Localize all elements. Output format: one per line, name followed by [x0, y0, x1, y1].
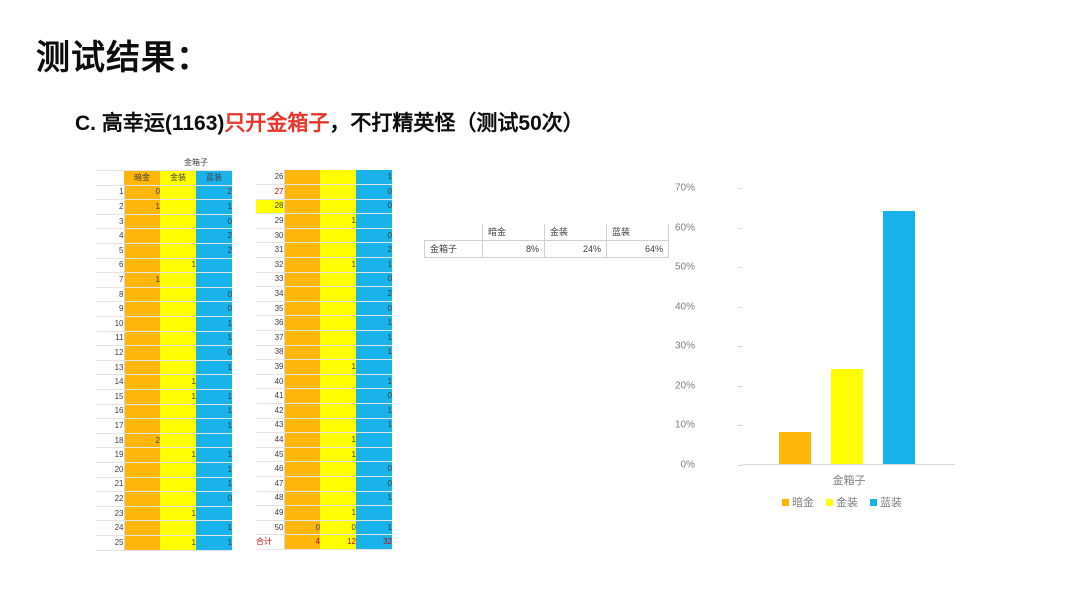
cell-gold-gear	[320, 228, 356, 243]
row-index-cell: 40	[256, 374, 284, 389]
row-index-cell: 25	[96, 535, 124, 550]
row-index-cell: 16	[96, 404, 124, 419]
table-row[interactable]: 451	[256, 447, 392, 462]
cell-gold-gear: 1	[320, 433, 356, 448]
cell-dark-gold	[124, 360, 160, 375]
table-row[interactable]: 371	[256, 331, 392, 346]
row-index-cell: 7	[96, 273, 124, 288]
cell-dark-gold	[124, 404, 160, 419]
cell-dark-gold	[284, 301, 320, 316]
cell-dark-gold	[124, 317, 160, 332]
row-index-cell: 34	[256, 287, 284, 302]
table-row[interactable]: 491	[256, 506, 392, 521]
total-row: 合计41232	[256, 535, 392, 550]
table-row[interactable]: 241	[96, 521, 232, 536]
y-axis-tick-mark	[738, 465, 743, 466]
table-row[interactable]: 161	[96, 404, 232, 419]
row-index-cell: 42	[256, 404, 284, 419]
table-row[interactable]: 50001	[256, 520, 392, 535]
cell-gold-gear: 1	[320, 258, 356, 273]
y-axis-tick-mark	[738, 307, 743, 308]
cell-dark-gold	[284, 331, 320, 346]
row-index-cell: 36	[256, 316, 284, 331]
cell-blue-gear: 0	[356, 301, 392, 316]
slide-subtitle: C. 高幸运(1163)只开金箱子，不打精英怪（测试50次）	[75, 107, 584, 137]
table-row[interactable]: 410	[256, 389, 392, 404]
row-index-cell: 5	[96, 244, 124, 259]
table-row[interactable]: 291	[256, 214, 392, 229]
cell-gold-gear	[160, 360, 196, 375]
cell-dark-gold	[284, 170, 320, 185]
table-row[interactable]: 141	[96, 375, 232, 390]
cell-gold-gear	[320, 185, 356, 200]
cell-blue-gear	[196, 258, 232, 273]
cell-blue-gear: 1	[196, 317, 232, 332]
legend-item[interactable]: 金装	[826, 494, 858, 510]
row-index-cell: 12	[96, 346, 124, 361]
cell-blue-gear: 1	[356, 520, 392, 535]
cell-blue-gear: 1	[356, 345, 392, 360]
column-header-row: 暗金 金装 蓝装	[96, 171, 232, 186]
cell-blue-gear: 2	[196, 185, 232, 200]
cell-blue-gear: 1	[196, 521, 232, 536]
row-index-cell: 38	[256, 345, 284, 360]
cell-blue-gear: 1	[356, 418, 392, 433]
row-index-cell: 2	[96, 200, 124, 215]
legend-swatch-icon	[826, 499, 833, 506]
table-row[interactable]: 481	[256, 491, 392, 506]
pct-value-dark: 8%	[483, 241, 545, 258]
cell-blue-gear: 0	[356, 199, 392, 214]
cell-dark-gold	[284, 258, 320, 273]
cell-gold-gear	[320, 243, 356, 258]
row-index-corner	[96, 156, 124, 171]
cell-blue-gear: 0	[196, 492, 232, 507]
y-axis-tick-label: 50%	[655, 262, 695, 273]
y-axis-tick-mark	[738, 188, 743, 189]
cell-gold-gear: 1	[320, 214, 356, 229]
row-index-header	[96, 171, 124, 186]
legend-swatch-icon	[870, 499, 877, 506]
column-header-gold: 金装	[160, 171, 196, 186]
row-index-cell: 6	[96, 258, 124, 273]
cell-dark-gold	[284, 287, 320, 302]
cell-dark-gold	[124, 506, 160, 521]
cell-blue-gear: 1	[196, 448, 232, 463]
cell-dark-gold	[124, 302, 160, 317]
cell-gold-gear	[160, 433, 196, 448]
table-row[interactable]: 421	[256, 404, 392, 419]
cell-blue-gear: 1	[196, 462, 232, 477]
row-index-cell: 20	[96, 462, 124, 477]
cell-gold-gear	[160, 273, 196, 288]
row-index-cell: 18	[96, 433, 124, 448]
table-body-right: 2612702802913003123211330342350361371381…	[256, 170, 392, 549]
legend-label: 蓝装	[880, 497, 902, 509]
cell-blue-gear: 0	[356, 462, 392, 477]
cell-blue-gear: 0	[356, 185, 392, 200]
cell-dark-gold	[124, 535, 160, 550]
y-axis-tick-mark	[738, 267, 743, 268]
table-row[interactable]: 211	[96, 477, 232, 492]
cell-blue-gear	[356, 506, 392, 521]
cell-blue-gear: 1	[356, 258, 392, 273]
cell-dark-gold	[284, 374, 320, 389]
table-row[interactable]: 201	[96, 462, 232, 477]
cell-dark-gold	[284, 462, 320, 477]
cell-gold-gear	[160, 229, 196, 244]
cell-dark-gold	[284, 491, 320, 506]
table-row[interactable]: 431	[256, 418, 392, 433]
table-row[interactable]: 1911	[96, 448, 232, 463]
table-head-left: 金箱子 暗金 金装 蓝装	[96, 156, 232, 185]
row-index-cell: 26	[256, 170, 284, 185]
row-index-cell: 15	[96, 390, 124, 405]
pct-data-row: 金箱子 8% 24% 64%	[425, 241, 669, 258]
cell-gold-gear	[320, 287, 356, 302]
cell-dark-gold	[284, 243, 320, 258]
bar-蓝装	[883, 211, 915, 464]
cell-blue-gear: 1	[356, 404, 392, 419]
cell-dark-gold	[284, 433, 320, 448]
cell-gold-gear	[320, 476, 356, 491]
cell-dark-gold	[124, 390, 160, 405]
pct-value-blue: 64%	[607, 241, 669, 258]
cell-blue-gear	[196, 433, 232, 448]
table-row[interactable]: 102	[96, 185, 232, 200]
subtitle-part-2: ，不打精英怪（测试50次）	[329, 112, 583, 135]
cell-gold-gear: 0	[320, 520, 356, 535]
table-row[interactable]: 111	[96, 331, 232, 346]
cell-dark-gold	[124, 448, 160, 463]
row-index-cell: 14	[96, 375, 124, 390]
table-row[interactable]: 101	[96, 317, 232, 332]
y-axis-tick-label: 10%	[655, 420, 695, 431]
cell-gold-gear	[160, 492, 196, 507]
cell-dark-gold	[284, 345, 320, 360]
cell-dark-gold	[284, 506, 320, 521]
row-index-cell: 19	[96, 448, 124, 463]
cell-gold-gear	[160, 346, 196, 361]
table-row[interactable]: 52	[96, 244, 232, 259]
cell-gold-gear	[320, 418, 356, 433]
row-index-cell: 32	[256, 258, 284, 273]
row-index-cell: 23	[96, 506, 124, 521]
row-index-cell: 37	[256, 331, 284, 346]
cell-dark-gold: 0	[284, 520, 320, 535]
page-title: 测试结果：	[36, 30, 211, 79]
table-row[interactable]: 3211	[256, 258, 392, 273]
cell-dark-gold	[124, 331, 160, 346]
cell-blue-gear: 0	[356, 272, 392, 287]
cell-blue-gear: 0	[356, 228, 392, 243]
cell-gold-gear	[320, 272, 356, 287]
table-row[interactable]: 71	[96, 273, 232, 288]
row-index-cell: 10	[96, 317, 124, 332]
cell-dark-gold	[124, 214, 160, 229]
row-index-cell: 30	[256, 228, 284, 243]
cell-gold-gear	[160, 462, 196, 477]
row-index-cell: 3	[96, 214, 124, 229]
row-index-cell: 17	[96, 419, 124, 434]
cell-blue-gear: 0	[356, 476, 392, 491]
cell-dark-gold	[284, 228, 320, 243]
row-index-cell: 11	[96, 331, 124, 346]
y-axis-tick-label: 20%	[655, 380, 695, 391]
cell-gold-gear	[160, 287, 196, 302]
cell-dark-gold	[284, 418, 320, 433]
y-axis-tick-label: 30%	[655, 341, 695, 352]
row-index-cell: 45	[256, 447, 284, 462]
cell-dark-gold	[124, 521, 160, 536]
y-axis-tick-mark	[738, 425, 743, 426]
cell-blue-gear	[356, 214, 392, 229]
subtitle-highlight: 只开金箱子	[224, 112, 329, 135]
legend-label: 暗金	[792, 497, 814, 509]
cell-blue-gear: 0	[196, 302, 232, 317]
row-index-cell: 49	[256, 506, 284, 521]
table-row[interactable]: 90	[96, 302, 232, 317]
cell-dark-gold	[284, 389, 320, 404]
table-row[interactable]: 280	[256, 199, 392, 214]
table-row[interactable]: 182	[96, 433, 232, 448]
cell-gold-gear	[320, 462, 356, 477]
cell-dark-gold	[124, 244, 160, 259]
table-row[interactable]: 1511	[96, 390, 232, 405]
chart-legend: 暗金金装蓝装	[717, 494, 967, 510]
cell-gold-gear	[320, 389, 356, 404]
total-value-gold: 12	[320, 535, 356, 550]
row-index-cell: 28	[256, 199, 284, 214]
row-index-cell: 4	[96, 229, 124, 244]
table-row[interactable]: 300	[256, 228, 392, 243]
row-index-cell: 21	[96, 477, 124, 492]
cell-blue-gear: 0	[196, 346, 232, 361]
pct-row-label: 金箱子	[425, 241, 483, 258]
cell-gold-gear: 1	[160, 535, 196, 550]
cell-dark-gold: 1	[124, 273, 160, 288]
table-row[interactable]: 270	[256, 185, 392, 200]
total-value-dark: 4	[284, 535, 320, 550]
x-axis-category-label: 金箱子	[743, 472, 955, 488]
row-index-cell: 13	[96, 360, 124, 375]
y-axis-tick-mark	[738, 386, 743, 387]
cell-gold-gear	[320, 301, 356, 316]
cell-gold-gear: 1	[160, 375, 196, 390]
cell-blue-gear: 1	[356, 170, 392, 185]
row-index-cell: 41	[256, 389, 284, 404]
cell-dark-gold	[284, 185, 320, 200]
row-index-cell: 27	[256, 185, 284, 200]
pct-header-row: 暗金 金装 蓝装	[425, 224, 669, 241]
column-header-blue: 蓝装	[196, 171, 232, 186]
spacer-cell	[124, 156, 160, 171]
legend-label: 金装	[836, 497, 858, 509]
table-row[interactable]: 391	[256, 360, 392, 375]
cell-blue-gear: 1	[196, 404, 232, 419]
row-index-cell: 31	[256, 243, 284, 258]
cell-gold-gear	[160, 214, 196, 229]
row-index-cell: 33	[256, 272, 284, 287]
table-row[interactable]: 261	[256, 170, 392, 185]
table-row[interactable]: 220	[96, 492, 232, 507]
cell-blue-gear: 1	[196, 200, 232, 215]
cell-blue-gear: 0	[196, 287, 232, 302]
row-index-cell: 39	[256, 360, 284, 375]
cell-blue-gear: 0	[196, 214, 232, 229]
cell-blue-gear: 1	[196, 360, 232, 375]
cell-blue-gear: 1	[356, 491, 392, 506]
cell-blue-gear: 0	[356, 389, 392, 404]
table-row[interactable]: 441	[256, 433, 392, 448]
row-index-cell: 47	[256, 476, 284, 491]
cell-gold-gear	[160, 404, 196, 419]
cell-gold-gear: 1	[160, 258, 196, 273]
cell-dark-gold: 1	[124, 200, 160, 215]
row-index-cell: 43	[256, 418, 284, 433]
y-axis-tick-mark	[738, 346, 743, 347]
cell-gold-gear	[320, 170, 356, 185]
cell-gold-gear: 1	[160, 506, 196, 521]
cell-dark-gold	[284, 404, 320, 419]
row-index-cell: 9	[96, 302, 124, 317]
cell-blue-gear: 1	[356, 374, 392, 389]
row-index-cell: 1	[96, 185, 124, 200]
y-axis-tick-mark	[738, 228, 743, 229]
table-row[interactable]: 30	[96, 214, 232, 229]
chart-plot-area	[743, 188, 955, 465]
bar-暗金	[779, 432, 811, 464]
cell-blue-gear: 1	[356, 331, 392, 346]
table-row[interactable]: 330	[256, 272, 392, 287]
row-index-cell: 29	[256, 214, 284, 229]
pct-header-gold: 金装	[545, 224, 607, 241]
cell-dark-gold	[284, 199, 320, 214]
cell-gold-gear	[320, 491, 356, 506]
table-row[interactable]: 460	[256, 462, 392, 477]
cell-gold-gear: 1	[320, 506, 356, 521]
table-row[interactable]: 211	[96, 200, 232, 215]
cell-dark-gold	[124, 287, 160, 302]
column-header-dark: 暗金	[124, 171, 160, 186]
cell-gold-gear	[160, 200, 196, 215]
table-row[interactable]: 401	[256, 374, 392, 389]
cell-gold-gear	[320, 199, 356, 214]
cell-gold-gear: 1	[160, 448, 196, 463]
cell-dark-gold	[284, 447, 320, 462]
cell-gold-gear	[320, 316, 356, 331]
cell-gold-gear: 1	[160, 390, 196, 405]
table-row[interactable]: 342	[256, 287, 392, 302]
cell-gold-gear	[320, 345, 356, 360]
table-row[interactable]: 61	[96, 258, 232, 273]
cell-gold-gear	[160, 302, 196, 317]
cell-dark-gold: 0	[124, 185, 160, 200]
cell-blue-gear: 1	[196, 419, 232, 434]
cell-blue-gear: 2	[356, 243, 392, 258]
table-row[interactable]: 470	[256, 476, 392, 491]
cell-dark-gold: 2	[124, 433, 160, 448]
cell-blue-gear	[356, 433, 392, 448]
table-row[interactable]: 171	[96, 419, 232, 434]
cell-blue-gear: 2	[196, 244, 232, 259]
row-index-cell: 35	[256, 301, 284, 316]
cell-gold-gear	[160, 317, 196, 332]
cell-blue-gear	[196, 375, 232, 390]
cell-gold-gear	[320, 404, 356, 419]
table-row[interactable]: 312	[256, 243, 392, 258]
cell-blue-gear: 1	[196, 390, 232, 405]
cell-gold-gear: 1	[320, 447, 356, 462]
data-table-rows-1-25[interactable]: 金箱子 暗金 金装 蓝装 102211304252617180901011111…	[96, 156, 232, 551]
row-index-cell: 44	[256, 433, 284, 448]
cell-gold-gear	[320, 374, 356, 389]
y-axis-tick-label: 40%	[655, 301, 695, 312]
y-axis-tick-label: 70%	[655, 183, 695, 194]
legend-item[interactable]: 暗金	[782, 494, 814, 510]
cell-blue-gear: 1	[356, 316, 392, 331]
table-row[interactable]: 120	[96, 346, 232, 361]
table-row[interactable]: 231	[96, 506, 232, 521]
table-row[interactable]: 131	[96, 360, 232, 375]
cell-dark-gold	[124, 477, 160, 492]
table-row[interactable]: 350	[256, 301, 392, 316]
row-index-cell: 24	[96, 521, 124, 536]
cell-dark-gold	[124, 258, 160, 273]
cell-dark-gold	[124, 419, 160, 434]
cell-dark-gold	[124, 375, 160, 390]
row-index-cell: 22	[96, 492, 124, 507]
cell-dark-gold	[124, 492, 160, 507]
group-header-row: 金箱子	[96, 156, 232, 171]
table-row[interactable]: 381	[256, 345, 392, 360]
total-label: 合计	[256, 535, 284, 550]
cell-gold-gear	[160, 185, 196, 200]
subtitle-part-1: C. 高幸运(1163)	[75, 112, 224, 135]
row-index-cell: 48	[256, 491, 284, 506]
cell-blue-gear: 2	[356, 287, 392, 302]
cell-gold-gear: 1	[320, 360, 356, 375]
cell-blue-gear	[356, 447, 392, 462]
y-axis-tick-label: 60%	[655, 222, 695, 233]
row-index-cell: 8	[96, 287, 124, 302]
cell-dark-gold	[284, 476, 320, 491]
cell-gold-gear	[320, 331, 356, 346]
cell-blue-gear: 1	[196, 535, 232, 550]
cell-gold-gear	[160, 477, 196, 492]
pct-value-gold: 24%	[545, 241, 607, 258]
table-row[interactable]: 361	[256, 316, 392, 331]
pct-header-dark: 暗金	[483, 224, 545, 241]
total-value-blue: 32	[356, 535, 392, 550]
group-header-label: 金箱子	[160, 156, 232, 171]
row-index-cell: 46	[256, 462, 284, 477]
cell-dark-gold	[124, 346, 160, 361]
legend-item[interactable]: 蓝装	[870, 494, 902, 510]
table-row[interactable]: 80	[96, 287, 232, 302]
data-table-rows-26-50[interactable]: 2612702802913003123211330342350361371381…	[256, 170, 392, 550]
cell-dark-gold	[284, 272, 320, 287]
summary-percent-table[interactable]: 暗金 金装 蓝装 金箱子 8% 24% 64%	[424, 224, 669, 258]
cell-blue-gear	[196, 273, 232, 288]
cell-blue-gear: 1	[196, 477, 232, 492]
cell-gold-gear	[160, 244, 196, 259]
row-index-cell: 50	[256, 520, 284, 535]
table-row[interactable]: 42	[96, 229, 232, 244]
table-row[interactable]: 2511	[96, 535, 232, 550]
pct-corner-cell	[425, 224, 483, 241]
cell-dark-gold	[124, 462, 160, 477]
